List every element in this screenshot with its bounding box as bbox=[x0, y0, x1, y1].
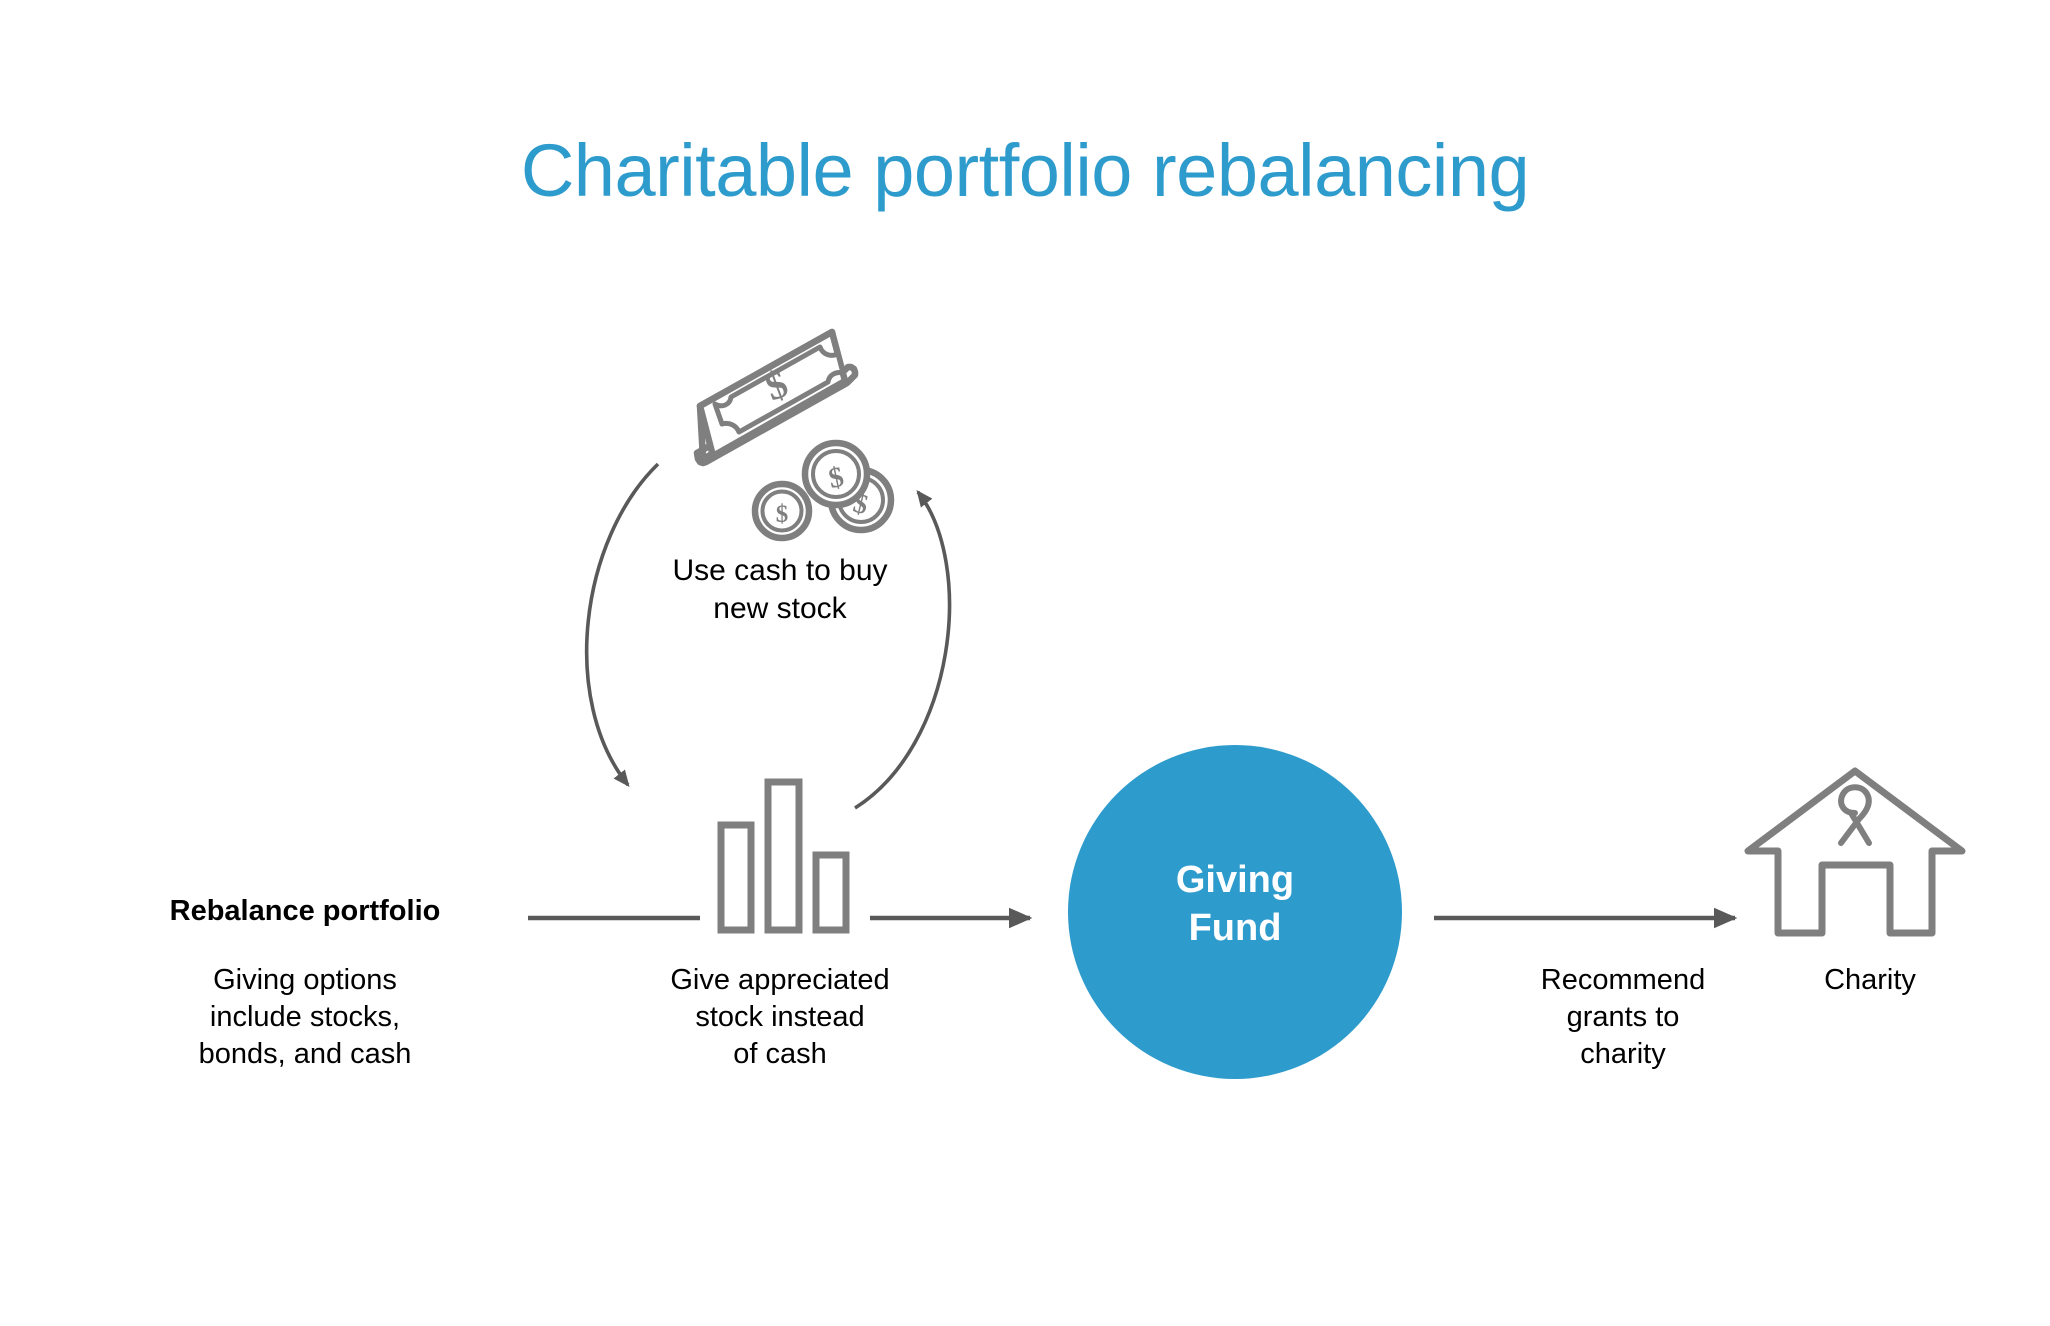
bar-3 bbox=[816, 855, 846, 930]
stock-description: Give appreciated stock instead of cash bbox=[600, 962, 960, 1073]
grants-description: Recommend grants to charity bbox=[1468, 962, 1778, 1073]
charity-description: Charity bbox=[1745, 962, 1995, 999]
house-with-ribbon-icon bbox=[1748, 771, 1962, 933]
cash-and-coins-icon: $ $ $ $ bbox=[697, 332, 891, 538]
giving-fund-label: Giving Fund bbox=[1068, 857, 1402, 953]
rebalance-description: Giving options include stocks, bonds, an… bbox=[110, 962, 500, 1073]
bar-chart-icon bbox=[721, 782, 846, 930]
cycle-arc-right bbox=[855, 492, 949, 808]
bar-1 bbox=[721, 825, 751, 930]
diagram-canvas: Charitable portfolio rebalancing bbox=[0, 0, 2050, 1326]
svg-text:$: $ bbox=[776, 501, 789, 528]
bar-2 bbox=[768, 782, 799, 930]
cycle-label: Use cash to buy new stock bbox=[600, 552, 960, 629]
diagram-graphics: $ $ $ $ bbox=[0, 0, 2050, 1326]
rebalance-heading: Rebalance portfolio bbox=[110, 893, 500, 930]
